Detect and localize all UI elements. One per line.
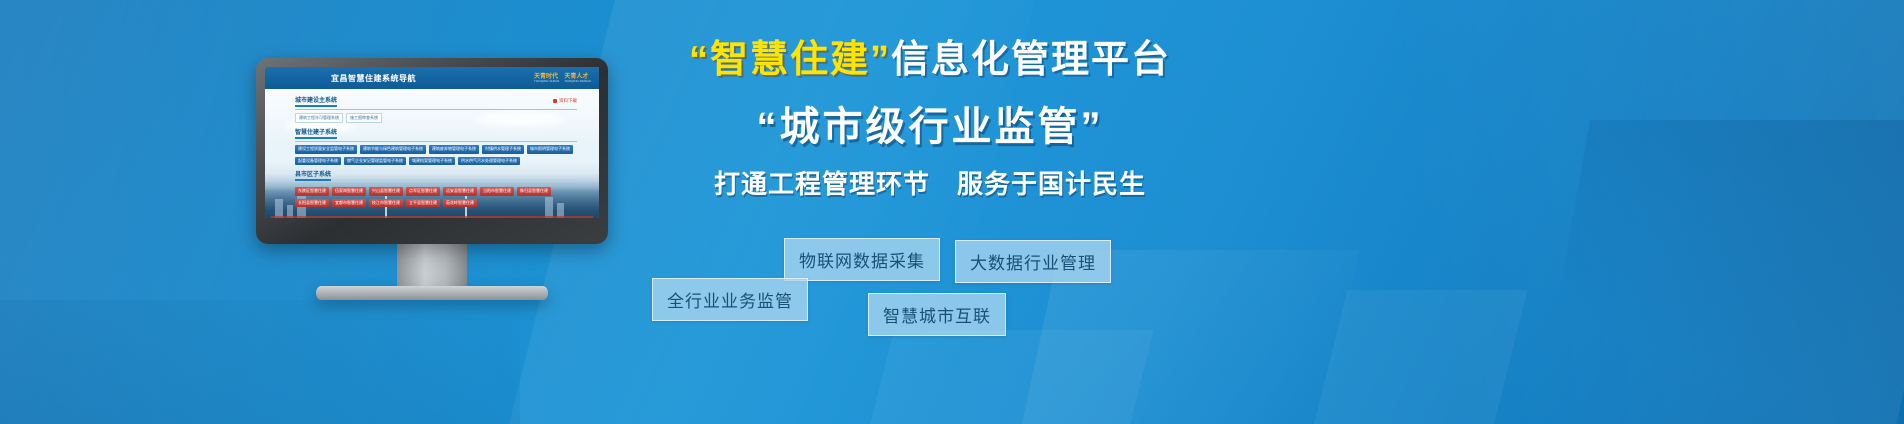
section-buttons: 建设工程质量安全监管电子系统 建筑节能与绿色建筑管理电子系统 建筑废弃物管理电子… [295,145,577,165]
feature-pill-iot[interactable]: 物联网数据采集 [784,238,940,281]
download-icon [553,99,557,103]
logo-tianqing-shidai: 天青时代 TIANQING SHIDAI [534,74,559,83]
headline-block: “智慧住建”信息化管理平台 “城市级行业监管” 打通工程管理环节 服务于国计民生 [620,40,1240,201]
nav-button[interactable]: 建设工程质量安全监管电子系统 [295,145,357,153]
monitor-screen: 宜昌智慧住建系统导航 天青时代 TIANQING SHIDAI 天青人才 TIA… [265,67,599,218]
section-title: 县市区子系统 [295,169,331,181]
section-title: 智慧住建子系统 [295,127,337,139]
nav-button[interactable]: 施工图审查系统 [346,113,382,123]
feature-pill-bigdata[interactable]: 大数据行业管理 [955,240,1111,283]
nav-button[interactable]: 城市照明管理电子系统 [527,145,573,153]
section-header: 城市建设主系统 资料下载 [295,95,577,110]
nav-button[interactable]: 供水供气污水处理管理电子系统 [458,157,520,165]
portal-section: 城市建设主系统 资料下载 建筑工程许可管理系统 施工图审查系统 [295,95,577,123]
imac-mockup: 宜昌智慧住建系统导航 天青时代 TIANQING SHIDAI 天青人才 TIA… [256,58,608,244]
background-facet-5 [0,300,520,424]
nav-button[interactable]: 村镇供水管理子系统 [482,145,524,153]
feature-pill-all-business[interactable]: 全行业业务监管 [652,278,808,321]
portal-title: 宜昌智慧住建系统导航 [331,73,416,84]
section-title: 城市建设主系统 [295,95,337,107]
nav-button[interactable]: 建筑工程许可管理系统 [295,113,343,123]
promo-banner: 宜昌智慧住建系统导航 天青时代 TIANQING SHIDAI 天青人才 TIA… [0,0,1904,424]
nav-button[interactable]: 建筑节能与绿色建筑管理电子系统 [360,145,426,153]
headline-line-1: “智慧住建”信息化管理平台 [620,40,1240,82]
section-header: 智慧住建子系统 [295,127,577,142]
logo-tianqing-rencai: 天青人才 TIANQING RENCAI [564,74,591,83]
monitor-bezel: 宜昌智慧住建系统导航 天青时代 TIANQING SHIDAI 天青人才 TIA… [256,58,608,244]
section-buttons: 建筑工程许可管理系统 施工图审查系统 [295,113,577,123]
portal-section: 智慧住建子系统 建设工程质量安全监管电子系统 建筑节能与绿色建筑管理电子系统 建… [295,127,577,165]
nav-button[interactable]: 起重设备管理电子系统 [295,157,341,165]
headline-line-3: 打通工程管理环节 服务于国计民生 [620,164,1240,201]
nav-button[interactable]: 城建档案管理电子系统 [409,157,455,165]
background-facet-7 [866,330,1153,424]
headline-highlight: “智慧住建” [689,39,891,81]
headline-line-2: “城市级行业监管” [620,94,1240,152]
nav-button[interactable]: 燃气企业安记管理监管电子系统 [344,157,406,165]
feature-pill-smart-city[interactable]: 智慧城市互联 [868,293,1006,336]
portal-header: 宜昌智慧住建系统导航 天青时代 TIANQING SHIDAI 天青人才 TIA… [265,67,599,89]
monitor-stand-neck [397,244,467,292]
monitor-chin [265,192,599,218]
background-facet-3 [1125,0,1904,424]
section-header: 县市区子系统 [295,169,577,184]
background-facet-4 [1530,120,1904,424]
background-facet-8 [1313,290,1528,424]
nav-button[interactable]: 建筑废弃物管理电子系统 [429,145,479,153]
headline-rest: 信息化管理平台 [891,39,1171,81]
monitor-stand-base [316,286,548,300]
portal-logos: 天青时代 TIANQING SHIDAI 天青人才 TIANQING RENCA… [534,74,591,83]
download-link[interactable]: 资料下载 [553,98,577,104]
